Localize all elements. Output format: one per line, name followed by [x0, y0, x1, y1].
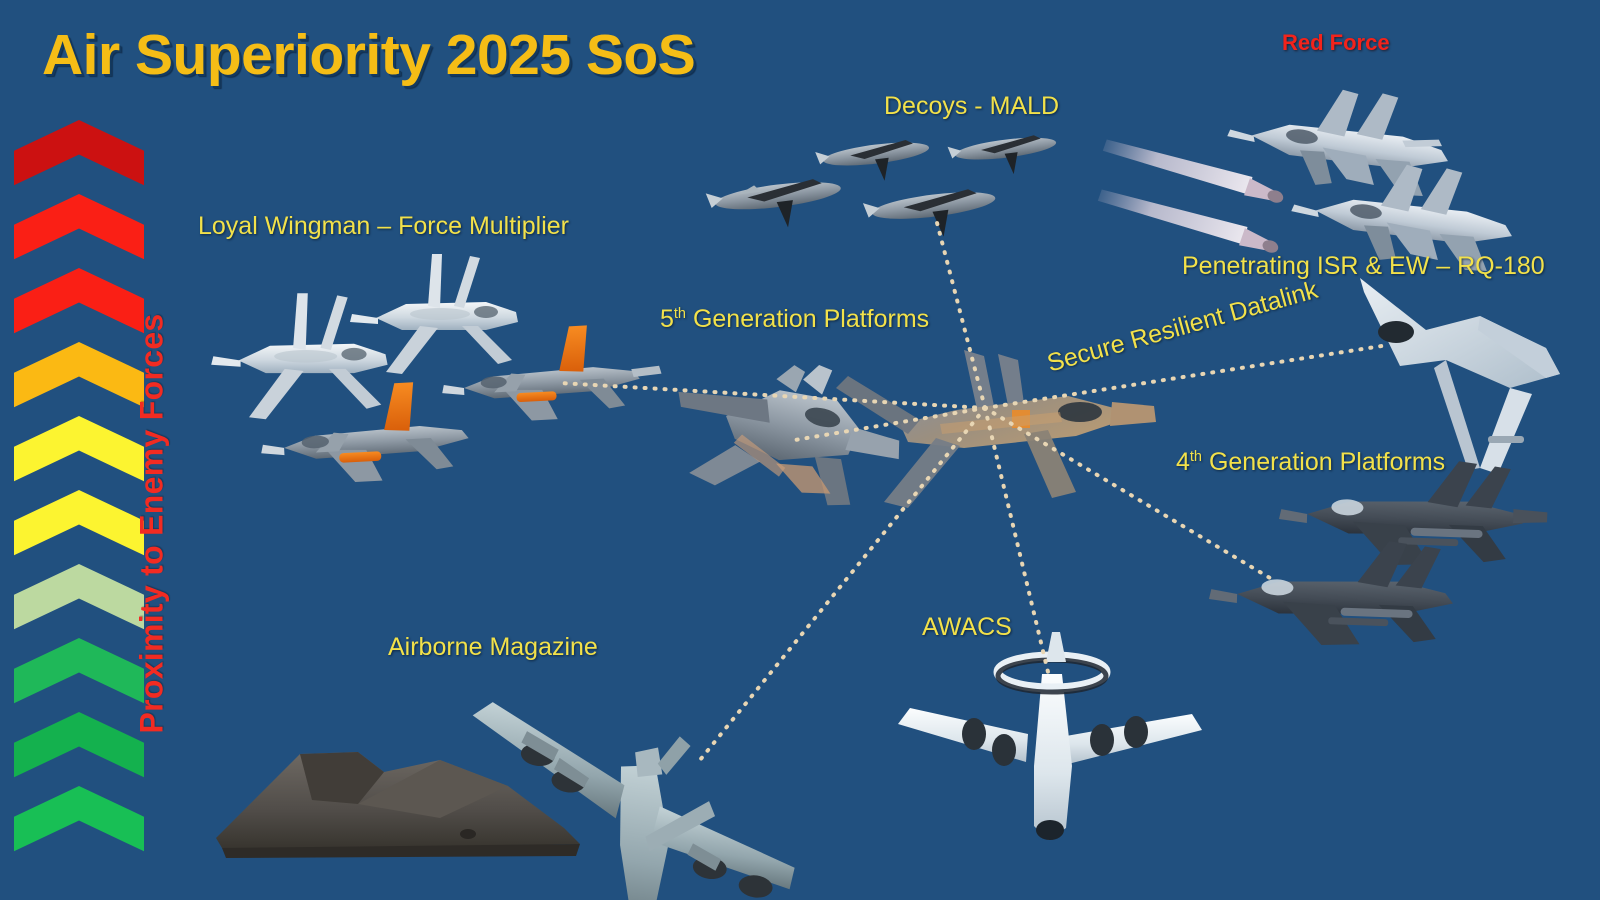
label-awacs: AWACS: [922, 613, 1012, 642]
label-gen5-superscript: th: [674, 306, 686, 322]
f15-group: [1208, 455, 1550, 649]
label-decoys-mald: Decoys - MALD: [884, 92, 1059, 121]
label-gen4-number: 4: [1176, 448, 1190, 476]
f22-raptor: [659, 334, 917, 527]
red-force-group: [1098, 73, 1520, 278]
mald-decoy-group: [705, 133, 1059, 246]
rq180-flying-wing: [1360, 278, 1560, 474]
f35-hub: [836, 350, 1156, 508]
label-red-force: Red Force: [1282, 30, 1390, 56]
label-penetrating-isr: Penetrating ISR & EW – RQ-180: [1182, 252, 1545, 281]
label-gen4-platforms: 4th Generation Platforms: [1176, 448, 1445, 477]
label-gen4-text: Generation Platforms: [1202, 448, 1445, 476]
label-gen5-number: 5: [660, 305, 674, 333]
label-airborne-magazine: Airborne Magazine: [388, 633, 598, 662]
label-gen5-text: Generation Platforms: [686, 305, 929, 333]
loyal-wingman-group: [211, 254, 663, 487]
b2-spirit: [216, 752, 580, 858]
label-loyal-wingman: Loyal Wingman – Force Multiplier: [198, 212, 569, 241]
label-gen5-platforms: 5th Generation Platforms: [660, 305, 929, 334]
awacs-e3: [898, 632, 1202, 840]
air-superiority-sos-slide: Air Superiority 2025 SoS Proximity to En…: [0, 0, 1600, 900]
label-gen4-superscript: th: [1190, 449, 1202, 465]
